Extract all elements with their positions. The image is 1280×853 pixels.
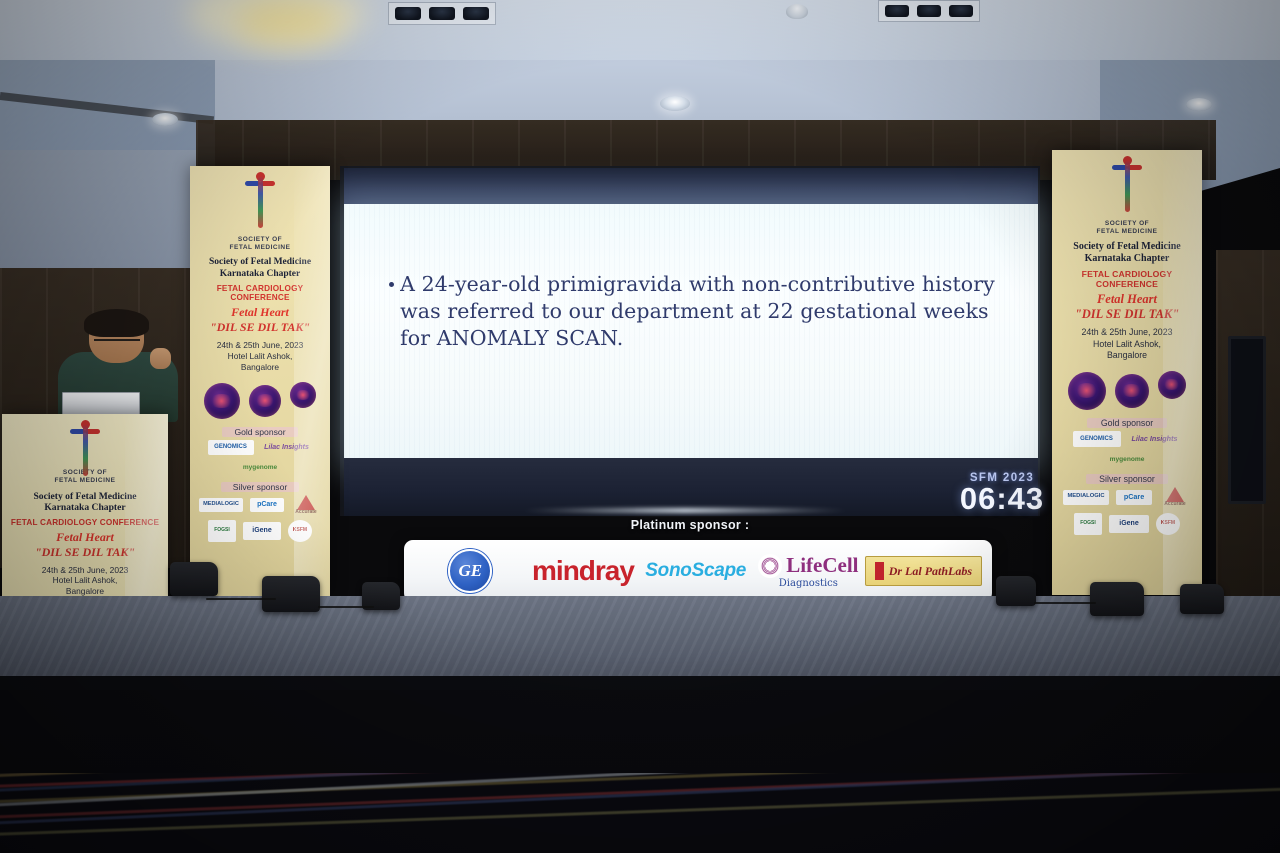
- ceiling-downlight-left: [152, 113, 178, 126]
- ultrasound-image-1-right: [1068, 372, 1106, 410]
- slide-body: A 24-year-old primigravida with non-cont…: [389, 271, 1010, 353]
- theme-line-1: Fetal Heart: [231, 305, 289, 320]
- logo-pcare-right: pCare: [1116, 490, 1152, 505]
- ultrasound-image-3-right: [1158, 371, 1186, 399]
- ceiling-spotlight-fixture-right: [878, 0, 980, 22]
- wall-alcove-right: [1228, 336, 1266, 504]
- drlal-red-bar-icon: [875, 562, 884, 580]
- ultrasound-image-2: [249, 385, 281, 417]
- stage-monitor-1: [170, 562, 218, 596]
- standee-banner-left: SOCIETY OF FETAL MEDICINE Society of Fet…: [190, 166, 330, 596]
- logo-accurate: Accurate: [291, 495, 321, 515]
- stage-cable-2: [318, 606, 374, 608]
- logo-genomics-right: GENOMICS: [1073, 431, 1121, 447]
- ge-monogram-icon: GE: [448, 549, 492, 593]
- fetal-ultrasound-images-right: [1068, 371, 1186, 411]
- banner-venue: 24th & 25th June, 2023 Hotel Lalit Ashok…: [217, 340, 304, 373]
- theme-line-2: "DIL SE DIL TAK": [210, 320, 310, 335]
- ultrasound-image-3: [290, 382, 316, 408]
- ultrasound-image-1: [204, 383, 240, 419]
- ceiling-downlight-center: [660, 96, 690, 111]
- silver-sponsor-logos: MEDIALOGIC pCare Accurate: [196, 495, 324, 515]
- society-name: Society of Fetal Medicine Karnataka Chap…: [209, 257, 311, 280]
- theme-line-2-podium: "DIL SE DIL TAK": [35, 545, 135, 560]
- theme-line-1-right: Fetal Heart: [1097, 292, 1157, 307]
- timer-value: 06:43: [952, 484, 1052, 514]
- theme-line-1-podium: Fetal Heart: [56, 530, 114, 545]
- stage-cable-1: [206, 598, 276, 600]
- logo-mygenome-right: mygenome: [1098, 454, 1156, 467]
- logo-ksfm-right: KSFM: [1156, 513, 1180, 535]
- sfm-logo-caption: SOCIETY OF FETAL MEDICINE: [230, 236, 291, 252]
- logo-accurate-right: Accurate: [1159, 487, 1191, 508]
- logo-medialogic-right: MEDIALOGIC: [1063, 490, 1109, 505]
- gold-sponsor-logos: GENOMICS Lilac Insights mygenome: [198, 440, 322, 475]
- other-sponsor-logos-right: FOGSI iGene KSFM: [1059, 513, 1195, 535]
- bullet-point-icon: [389, 282, 394, 287]
- silver-sponsor-heading: Silver sponsor: [221, 482, 299, 492]
- mindray-wordmark: mindray: [532, 555, 634, 587]
- podium-laptop: [62, 392, 140, 416]
- sponsor-ge: GE: [414, 540, 527, 602]
- smoke-detector-icon: [786, 4, 808, 19]
- carpet-stripe: [0, 775, 1280, 849]
- sponsor-mindray: mindray: [527, 540, 640, 602]
- banner-venue-right: 24th & 25th June, 2023 Hotel Lalit Ashok…: [1082, 327, 1173, 361]
- other-sponsor-logos: FOGSI iGene KSFM: [197, 520, 323, 542]
- session-timer: SFM 2023 06:43: [952, 472, 1052, 514]
- gold-sponsor-heading-right: Gold sponsor: [1087, 418, 1167, 428]
- speaker-hand: [150, 348, 170, 369]
- platinum-sponsor-board: GE mindray SonoScape LifeCell Diagnostic…: [404, 540, 992, 602]
- sfm-logo-icon-right: [1110, 156, 1144, 218]
- stage-monitor-5: [1090, 582, 1144, 616]
- gold-sponsor-logos-right: GENOMICS Lilac Insights mygenome: [1060, 431, 1194, 467]
- accurate-triangle-icon-right: [1166, 487, 1184, 502]
- presentation-slide: A 24-year-old primigravida with non-cont…: [344, 204, 1038, 460]
- silver-sponsor-logos-right: MEDIALOGIC pCare Accurate: [1058, 487, 1196, 508]
- sponsor-lifecell: LifeCell Diagnostics: [752, 540, 865, 602]
- patterned-carpet: [0, 773, 1280, 853]
- ceiling-spotlight-fixture-left: [388, 2, 496, 25]
- gold-sponsor-heading: Gold sponsor: [222, 427, 298, 437]
- standee-banner-right: SOCIETY OF FETAL MEDICINE Society of Fet…: [1052, 150, 1202, 595]
- theme-line-2-right: "DIL SE DIL TAK": [1075, 307, 1179, 322]
- logo-genomics: GENOMICS: [208, 440, 254, 455]
- sfm-logo-caption-right: SOCIETY OF FETAL MEDICINE: [1097, 220, 1158, 236]
- logo-medialogic: MEDIALOGIC: [199, 498, 243, 512]
- accurate-triangle-icon: [297, 495, 315, 510]
- screen-reflection-glint: [520, 508, 850, 513]
- logo-lilac-insights-right: Lilac Insights: [1128, 431, 1182, 447]
- stage-monitor-6: [1180, 584, 1224, 614]
- ceiling-downlight-right: [1186, 98, 1212, 111]
- conference-title-right: FETAL CARDIOLOGY CONFERENCE: [1052, 269, 1202, 289]
- silver-sponsor-heading-right: Silver sponsor: [1086, 474, 1168, 484]
- stage-monitor-4: [996, 576, 1036, 606]
- sfm-logo-icon-podium: [68, 420, 102, 467]
- logo-pcare: pCare: [250, 498, 284, 512]
- logo-igene: iGene: [243, 522, 281, 540]
- stage-deck: [0, 596, 1280, 684]
- stage-monitor-2: [262, 576, 320, 612]
- sponsor-drlalpathlabs: Dr Lal PathLabs: [865, 540, 982, 602]
- slide-bullet-text: A 24-year-old primigravida with non-cont…: [400, 271, 1010, 353]
- sponsor-sonoscape: SonoScape: [639, 540, 752, 602]
- society-name-podium: Society of Fetal Medicine Karnataka Chap…: [33, 491, 136, 514]
- lifecell-wordmark: LifeCell: [786, 555, 858, 576]
- fetal-ultrasound-images: [204, 382, 316, 420]
- upper-wall-left: [0, 150, 200, 270]
- stage-cable-3: [1034, 602, 1096, 604]
- logo-fogsi: FOGSI: [208, 520, 236, 542]
- conference-title: FETAL CARDIOLOGY CONFERENCE: [190, 284, 330, 302]
- screen-letterbox-top: [344, 168, 1038, 206]
- logo-fogsi-right: FOGSI: [1074, 513, 1102, 535]
- speaker-glasses-icon: [94, 333, 140, 342]
- conference-photo-scene: A 24-year-old primigravida with non-cont…: [0, 0, 1280, 853]
- banner-venue-podium: 24th & 25th June, 2023 Hotel Lalit Ashok…: [42, 565, 129, 598]
- society-name-right: Society of Fetal Medicine Karnataka Chap…: [1073, 241, 1180, 265]
- conference-title-podium: FETAL CARDIOLOGY CONFERENCE: [11, 518, 159, 527]
- logo-lilac-insights: Lilac Insights: [261, 440, 313, 455]
- lifecell-dots-icon: [758, 554, 782, 578]
- drlal-wordmark: Dr Lal PathLabs: [889, 564, 972, 579]
- platinum-sponsor-heading: Platinum sponsor :: [540, 518, 840, 532]
- lifecell-subtitle: Diagnostics: [779, 579, 838, 589]
- ultrasound-image-2-right: [1115, 374, 1149, 408]
- logo-igene-right: iGene: [1109, 515, 1149, 533]
- logo-mygenome: mygenome: [233, 462, 287, 475]
- sonoscape-wordmark: SonoScape: [645, 560, 746, 582]
- logo-ksfm: KSFM: [288, 520, 312, 542]
- sfm-logo-icon: [243, 172, 277, 234]
- ceiling-soffit: [0, 0, 1280, 60]
